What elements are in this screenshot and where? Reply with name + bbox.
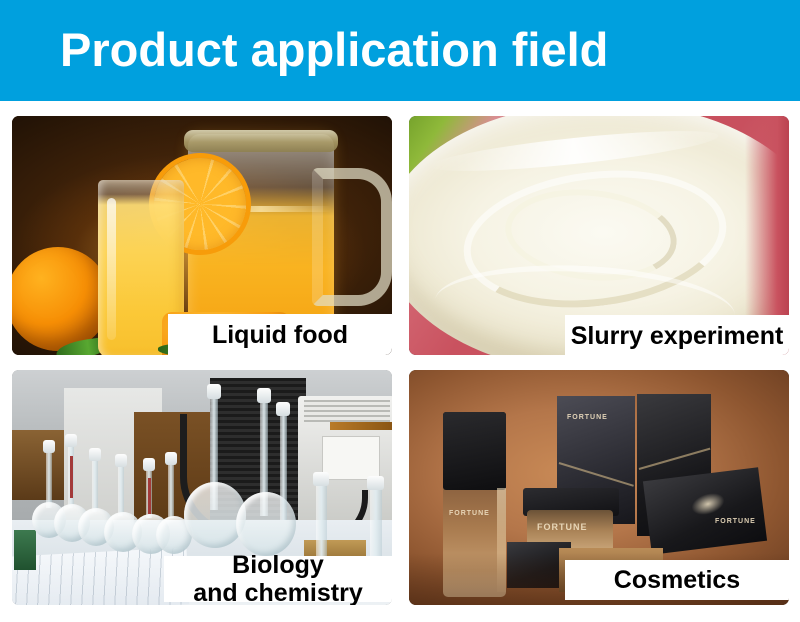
- flask-stopper: [43, 440, 55, 453]
- lab-instrument-vents: [304, 400, 390, 422]
- lab-instrument-label: [322, 436, 380, 480]
- tall-flask-bulb: [236, 492, 296, 556]
- box-brand-text: FORTUNE: [567, 414, 608, 421]
- flask-stopper: [65, 434, 77, 447]
- flask-neck: [168, 460, 174, 518]
- flask-stopper: [115, 454, 127, 467]
- tall-flask-stopper: [257, 388, 271, 403]
- header-banner: Product application field: [0, 0, 800, 101]
- flask-red-marking: [148, 478, 151, 514]
- tall-flask-stopper: [276, 402, 290, 416]
- lab-green-bottle: [14, 530, 36, 570]
- card-label-slurry-experiment: Slurry experiment: [565, 315, 789, 355]
- card-label-text: Slurry experiment: [571, 322, 784, 350]
- cylinder-tube: [316, 482, 327, 560]
- flask-neck: [46, 448, 52, 508]
- bottle-brand-text: FORTUNE: [449, 510, 490, 517]
- card-label-line-1: Biology: [193, 551, 363, 579]
- flask-stopper: [143, 458, 155, 471]
- box-brand-text: FORTUNE: [715, 518, 756, 525]
- tall-flask-stopper: [207, 384, 221, 399]
- card-label-cosmetics: Cosmetics: [565, 560, 789, 600]
- flask-neck: [92, 456, 98, 512]
- pitcher-rim: [184, 130, 338, 152]
- lab-instrument-orange-strip: [330, 422, 392, 430]
- cylinder-stopper: [313, 472, 329, 486]
- pitcher-handle: [312, 168, 392, 306]
- application-card-liquid-food[interactable]: Liquid food: [12, 116, 392, 355]
- card-label-text-block: Biology and chemistry: [193, 551, 363, 605]
- glass-highlight: [107, 198, 116, 340]
- flask-stopper: [165, 452, 177, 465]
- foundation-bottle-cap: [443, 412, 506, 490]
- application-cards-grid: Liquid food Slurry experiment: [12, 116, 789, 606]
- flask-red-marking: [70, 456, 73, 498]
- card-label-text: Liquid food: [212, 321, 348, 349]
- jar-brand-text: FORTUNE: [537, 522, 588, 532]
- cylinder-stopper: [367, 476, 384, 490]
- lab-wood-shelf-left: [12, 430, 66, 500]
- lab-notebook: [12, 547, 189, 605]
- flask-stopper: [89, 448, 101, 461]
- product-application-field-page: Product application field Liquid food: [0, 0, 800, 622]
- page-title: Product application field: [60, 14, 608, 86]
- application-card-cosmetics[interactable]: FORTUNE FORTUNE FORTUNE FORTUNE Cosmetic…: [409, 370, 789, 605]
- application-card-biology-and-chemistry[interactable]: Biology and chemistry: [12, 370, 392, 605]
- flask-neck: [118, 462, 124, 516]
- tall-flask-neck: [280, 410, 287, 520]
- card-label-liquid-food: Liquid food: [168, 314, 392, 355]
- card-label-biology-and-chemistry: Biology and chemistry: [164, 556, 392, 602]
- cylinder-tube: [370, 486, 382, 566]
- card-label-text: Cosmetics: [614, 566, 740, 594]
- application-card-slurry-experiment[interactable]: Slurry experiment: [409, 116, 789, 355]
- card-label-line-2: and chemistry: [193, 579, 363, 605]
